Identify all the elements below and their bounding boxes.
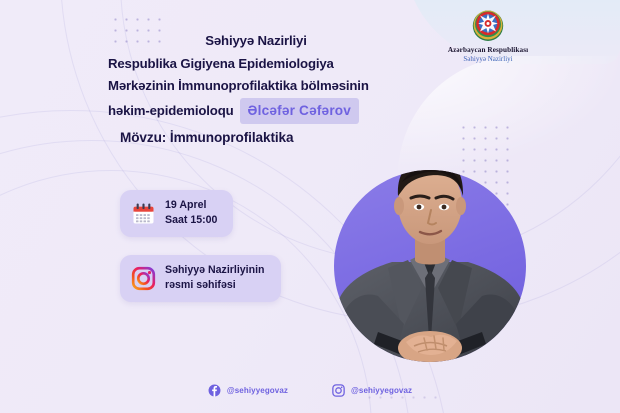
ministry-logo: Azərbaycan Respublikası Səhiyyə Nazirliy…	[424, 6, 552, 64]
presenter-portrait	[318, 118, 548, 368]
facebook-icon	[208, 384, 221, 397]
headline-line-4: həkim-epidemioloqu	[108, 103, 234, 118]
instagram-line-1: Səhiyyə Nazirliyinin	[165, 263, 265, 278]
headline-block: Səhiyyə Nazirliyi Respublika Gigiyena Ep…	[108, 30, 438, 124]
presenter-portrait-illustration	[318, 118, 548, 368]
date-card: 19 Aprel Saat 15:00	[120, 190, 233, 237]
headline-line-3: Mərkəzinin İmmunoprofilaktika bölməsinin	[108, 75, 438, 98]
date-line-2: Saat 15:00	[165, 213, 217, 228]
date-line-1: 19 Aprel	[165, 198, 217, 213]
topic-line: Mövzu: İmmunoprofilaktika	[120, 130, 293, 145]
logo-line-2: Səhiyyə Nazirliyi	[424, 55, 552, 64]
poster-canvas: Azərbaycan Respublikası Səhiyyə Nazirliy…	[0, 0, 620, 413]
instagram-card[interactable]: Səhiyyə Nazirliyinin rəsmi səhifəsi	[120, 255, 281, 302]
instagram-icon	[131, 266, 156, 291]
azerbaijan-state-emblem-icon	[469, 6, 507, 44]
instagram-icon	[332, 384, 345, 397]
instagram-handle: @sehiyyegovaz	[351, 386, 412, 395]
social-instagram[interactable]: @sehiyyegovaz	[332, 384, 412, 397]
headline-line-2: Respublika Gigiyena Epidemiologiya	[108, 53, 438, 76]
instagram-line-2: rəsmi səhifəsi	[165, 278, 265, 293]
instagram-card-text: Səhiyyə Nazirliyinin rəsmi səhifəsi	[165, 263, 265, 294]
social-bar: @sehiyyegovaz @sehiyyegovaz	[0, 384, 620, 397]
facebook-handle: @sehiyyegovaz	[227, 386, 288, 395]
social-facebook[interactable]: @sehiyyegovaz	[208, 384, 288, 397]
headline-line-1: Səhiyyə Nazirliyi	[108, 30, 438, 53]
logo-line-1: Azərbaycan Respublikası	[424, 46, 552, 55]
date-card-text: 19 Aprel Saat 15:00	[165, 198, 217, 229]
calendar-icon	[131, 201, 156, 226]
